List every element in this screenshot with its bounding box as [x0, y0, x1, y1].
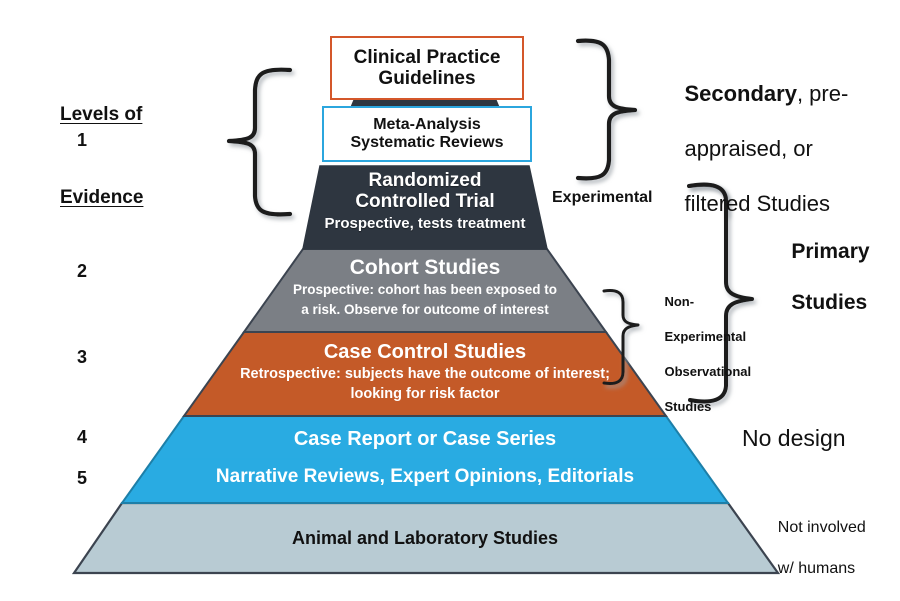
evidence-pyramid-diagram: Levels of Evidence 1 2 3 4 5 Clinical Pr…	[0, 0, 900, 581]
tier-label-cohort-studies: Cohort Studies Prospective: cohort has b…	[240, 256, 610, 319]
tier-label-randomized-controlled-trial: Randomized Controlled Trial Prospective,…	[280, 170, 570, 232]
tier-label-narrative-reviews: Narrative Reviews, Expert Opinions, Edit…	[140, 466, 710, 488]
rct-subtext: Prospective, tests treatment	[280, 215, 570, 232]
rct-heading-line2: Controlled Trial	[280, 191, 570, 212]
nonexp-line3: Observational	[664, 364, 751, 379]
level-number-5: 5	[62, 468, 102, 489]
tier-label-animal-laboratory-studies: Animal and Laboratory Studies	[120, 528, 730, 549]
tier-label-case-control-studies: Case Control Studies Retrospective: subj…	[195, 341, 655, 403]
case-control-heading: Case Control Studies	[195, 341, 655, 363]
cohort-subtext-line2: a risk. Observe for outcome of interest	[240, 302, 610, 319]
page-title-line1: Levels of	[60, 101, 220, 129]
secondary-line2: appraised, or	[684, 136, 812, 161]
cohort-heading: Cohort Studies	[240, 256, 610, 279]
brace-secondary-studies	[578, 41, 635, 179]
not-involved-line1: Not involved	[778, 519, 866, 536]
case-control-subtext-line2: looking for risk factor	[195, 385, 655, 403]
annotation-primary-studies: Primary Studies	[768, 214, 888, 340]
level-number-4: 4	[62, 427, 102, 448]
case-control-subtext-line1: Retrospective: subjects have the outcome…	[195, 365, 655, 383]
annotation-experimental: Experimental	[552, 189, 652, 207]
clinical-practice-guidelines-box: Clinical Practice Guidelines	[330, 36, 524, 100]
annotation-non-experimental-observational: Non- Experimental Observational Studies	[650, 275, 742, 433]
level-number-3: 3	[62, 347, 102, 368]
meta-line2: Systematic Reviews	[351, 134, 504, 151]
not-involved-line2: w/ humans	[778, 560, 855, 577]
meta-analysis-systematic-reviews-box: Meta-Analysis Systematic Reviews	[322, 106, 532, 162]
secondary-rest: , pre-	[797, 81, 848, 106]
page-title: Levels of Evidence	[60, 46, 220, 266]
tier-label-case-report-case-series: Case Report or Case Series	[160, 428, 690, 451]
cpg-line1: Clinical Practice	[354, 47, 501, 68]
page-title-line2: Evidence	[60, 184, 220, 212]
nonexp-line2: Experimental	[664, 329, 746, 344]
primary-line2: Studies	[791, 291, 867, 314]
level-number-1: 1	[62, 130, 102, 151]
cohort-subtext-line1: Prospective: cohort has been exposed to	[240, 282, 610, 299]
cpg-line2: Guidelines	[378, 68, 475, 89]
primary-line1: Primary	[791, 240, 869, 263]
secondary-bold-word: Secondary	[684, 81, 797, 106]
secondary-line3: filtered Studies	[684, 191, 830, 216]
rct-heading-line1: Randomized	[280, 170, 570, 191]
nonexp-line1: Non-	[664, 294, 694, 309]
annotation-not-involved-with-humans: Not involved w/ humans	[760, 497, 890, 601]
level-number-2: 2	[62, 261, 102, 282]
annotation-no-design: No design	[742, 425, 846, 452]
nonexp-line4: Studies	[664, 399, 711, 414]
meta-line1: Meta-Analysis	[373, 116, 481, 133]
